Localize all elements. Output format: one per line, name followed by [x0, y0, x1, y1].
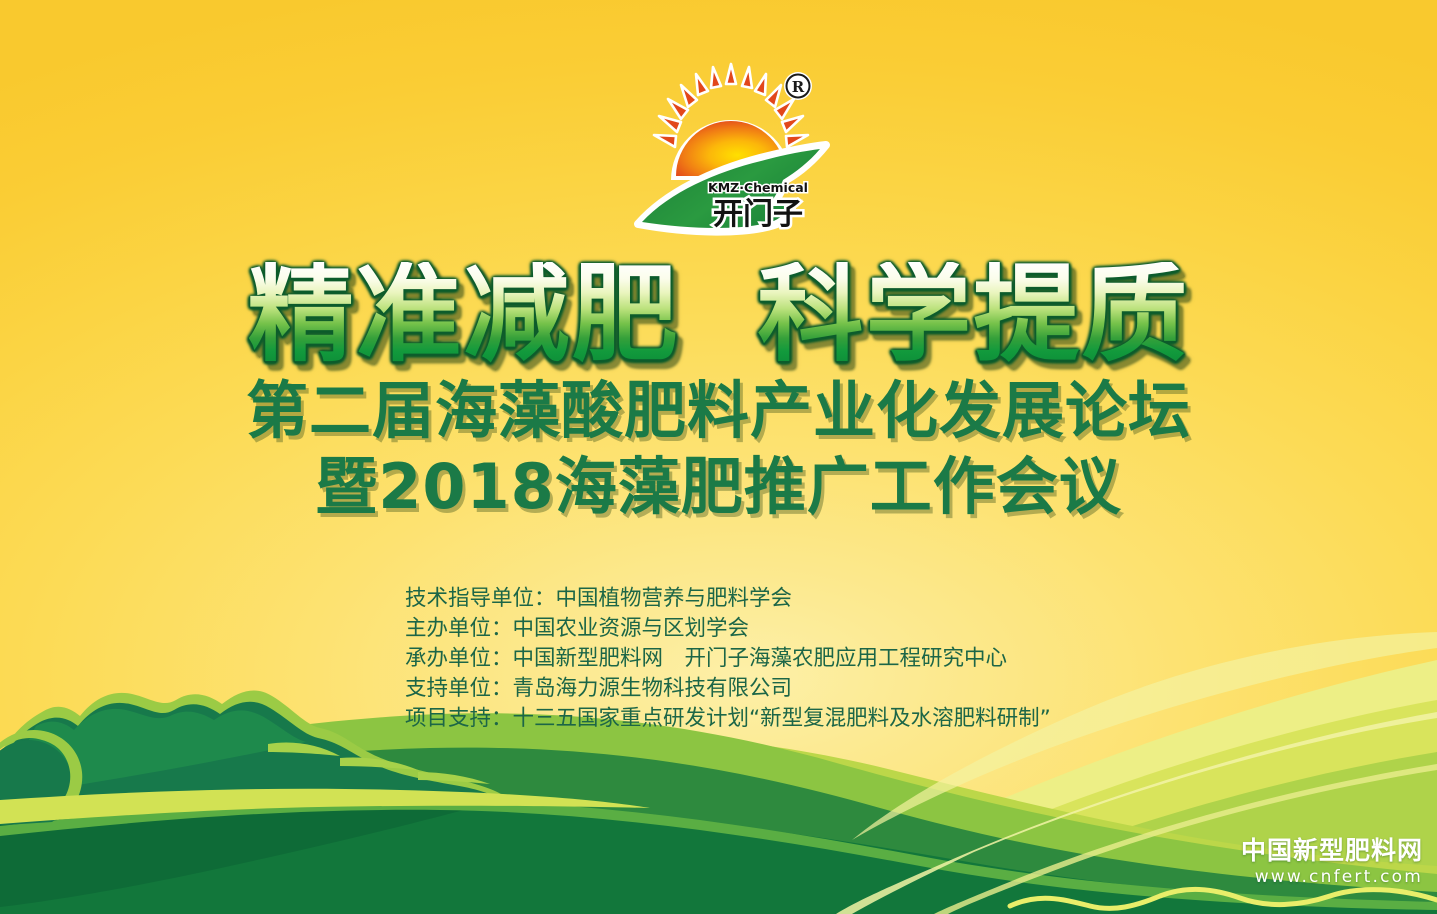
site-watermark: 中国新型肥料网 www.cnfert.com	[1241, 837, 1423, 888]
credit-line: 技术指导单位：中国植物营养与肥料学会	[405, 584, 1305, 614]
company-logo: R KMZ·Chemical 开门子	[630, 62, 835, 242]
subtitle-line-2: 暨2018海藻肥推广工作会议	[0, 456, 1437, 518]
credits-block: 技术指导单位：中国植物营养与肥料学会 主办单位：中国农业资源与区划学会 承办单位…	[405, 584, 1305, 734]
watermark-url: www.cnfert.com	[1241, 867, 1423, 888]
registered-trademark-icon: R	[784, 72, 812, 100]
subtitle-line-1: 第二届海藻酸肥料产业化发展论坛	[0, 380, 1437, 442]
credit-line: 支持单位：青岛海力源生物科技有限公司	[405, 674, 1305, 704]
watermark-site-name: 中国新型肥料网	[1241, 837, 1423, 865]
credit-line: 承办单位：中国新型肥料网 开门子海藻农肥应用工程研究中心	[405, 644, 1305, 674]
credit-line: 主办单位：中国农业资源与区划学会	[405, 614, 1305, 644]
logo-cn-text: 开门子	[713, 197, 803, 232]
main-headline: 精准减肥 科学提质	[248, 262, 1190, 368]
svg-text:R: R	[792, 78, 805, 96]
logo-latin-text: KMZ·Chemical	[708, 180, 808, 195]
credit-line: 项目支持：十三五国家重点研发计划“新型复混肥料及水溶肥料研制”	[405, 704, 1305, 734]
poster-canvas: R KMZ·Chemical 开门子 精准减肥 科学提质 第二届海藻酸肥料产业化…	[0, 0, 1437, 914]
headline-block: 精准减肥 科学提质 第二届海藻酸肥料产业化发展论坛 暨2018海藻肥推广工作会议	[0, 262, 1437, 518]
